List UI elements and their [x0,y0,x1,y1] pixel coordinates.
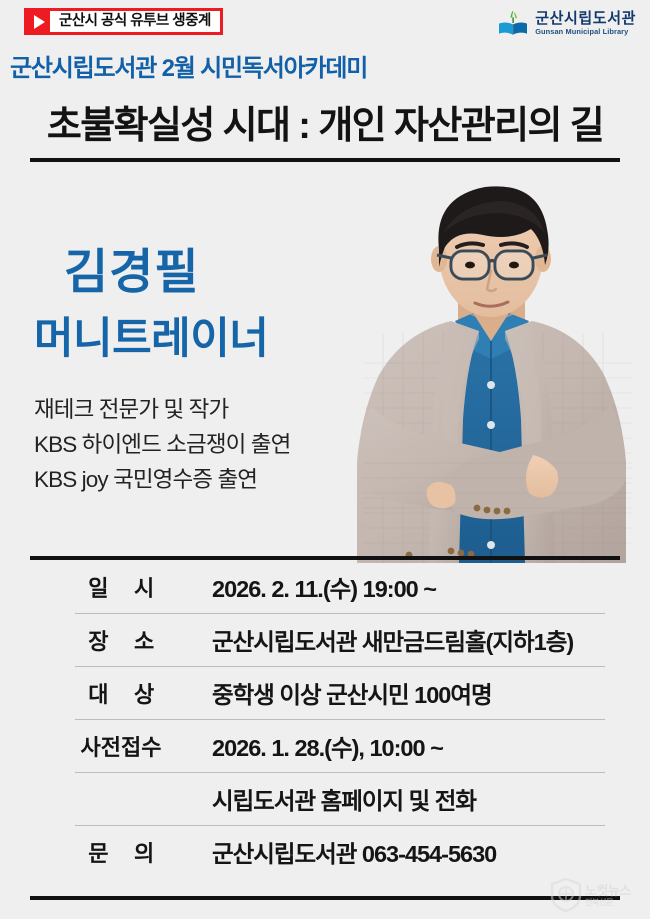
info-value-venue: 군산시립도서관 새만금드림홀(지하1층) [212,623,573,657]
info-value-registration-method: 시립도서관 홈페이지 및 전화 [212,782,476,816]
info-label-venue: 장소 [30,624,212,656]
speaker-portrait [333,163,650,563]
info-label-date-b: 시 [134,576,154,601]
info-label-venue-b: 소 [134,629,154,654]
info-value-audience: 중학생 이상 군산시민 100여명 [212,676,492,710]
speaker-role: 머니트레이너 [34,318,268,361]
info-row-registration-method: 시립도서관 홈페이지 및 전화 [30,772,620,825]
info-value-registration: 2026. 1. 28.(수), 10:00 ~ [212,729,443,763]
event-poster: 군산시 공식 유투브 생중계 군산시립도서관 Gunsan Municipal … [0,0,650,919]
event-info-table: 일시 2026. 2. 11.(수) 19:00 ~ 장소 군산시립도서관 새만… [30,556,620,878]
info-row-audience: 대상 중학생 이상 군산시민 100여명 [30,666,620,719]
info-label-venue-a: 장 [88,629,108,654]
watermark-shield-icon [550,878,582,912]
info-row-registration: 사전접수 2026. 1. 28.(수), 10:00 ~ [30,719,620,772]
info-row-contact: 문의 군산시립도서관 063-454-5630 [30,825,620,878]
speaker-bio-line: KBS joy 국민영수증 출연 [34,462,290,497]
info-label-audience-b: 상 [134,682,154,707]
speaker-bio-line: KBS 하이엔드 소금쟁이 출연 [34,427,290,462]
event-subtitle: 군산시립도서관 2월 시민독서아카데미 [10,48,367,83]
info-label-audience-a: 대 [88,682,108,707]
watermark-text: 노컷뉴스 전북신문 [585,884,631,907]
speaker-name: 김경필 [64,249,199,297]
event-title: 초불확실성 시대 : 개인 자산관리의 길 [0,94,650,149]
library-logo-wordmark: 군산시립도서관 Gunsan Municipal Library [535,11,636,36]
speaker-bio: 재테크 전문가 및 작가 KBS 하이엔드 소금쟁이 출연 KBS joy 국민… [34,392,290,497]
info-row-venue: 장소 군산시립도서관 새만금드림홀(지하1층) [30,613,620,666]
library-logo-korean: 군산시립도서관 [535,11,636,26]
live-stream-badge-label: 군산시 공식 유투브 생중계 [50,11,220,32]
info-label-registration: 사전접수 [30,730,212,762]
info-value-date: 2026. 2. 11.(수) 19:00 ~ [212,570,436,604]
press-watermark: 노컷뉴스 전북신문 [550,875,646,915]
info-label-date: 일시 [30,571,212,603]
info-label-contact-a: 문 [88,841,108,866]
speaker-bio-line: 재테크 전문가 및 작가 [34,392,290,427]
info-label-audience: 대상 [30,677,212,709]
watermark-line-1: 노컷뉴스 [585,884,631,897]
info-value-contact: 군산시립도서관 063-454-5630 [212,835,496,869]
info-label-contact-b: 의 [134,841,154,866]
info-label-date-a: 일 [88,576,108,601]
live-stream-badge: 군산시 공식 유투브 생중계 [24,8,223,35]
info-row-date: 일시 2026. 2. 11.(수) 19:00 ~ [30,560,620,613]
library-logo-english: Gunsan Municipal Library [535,28,636,35]
play-triangle-icon [34,15,45,29]
info-table-bottom-divider [30,896,620,900]
info-label-contact: 문의 [30,836,212,868]
library-logo: 군산시립도서관 Gunsan Municipal Library [497,9,636,37]
title-divider [30,158,620,162]
open-book-sprout-icon [497,9,529,37]
